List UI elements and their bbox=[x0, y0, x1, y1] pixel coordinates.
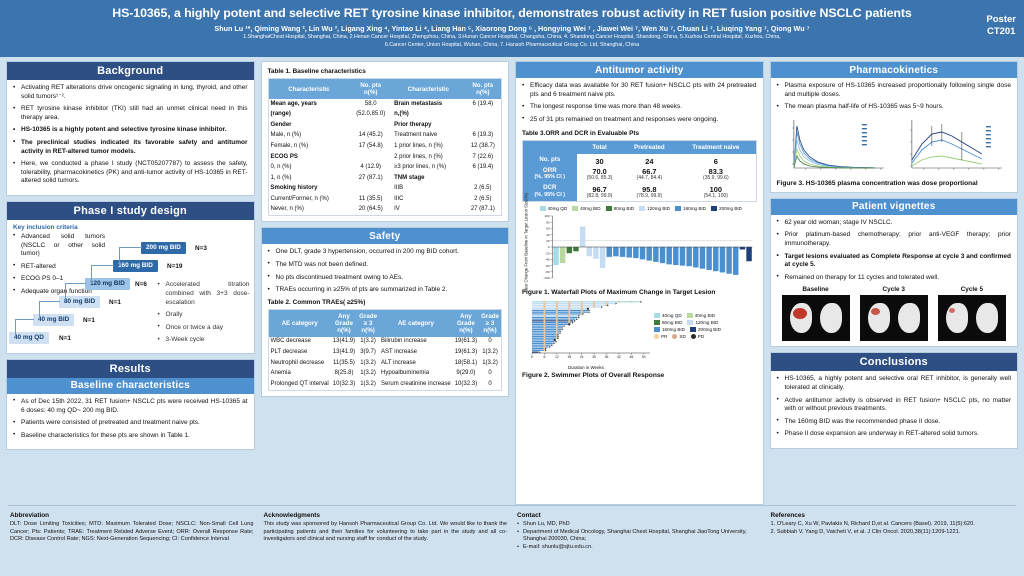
table-cell: 19(61.3) bbox=[453, 337, 479, 348]
list-item: Here, we conducted a phase I study (NCT0… bbox=[13, 160, 248, 186]
antitumor-heading: Antitumor activity bbox=[516, 62, 763, 78]
table-cell bbox=[465, 120, 501, 131]
table-cell: (52.0,85.0) bbox=[349, 110, 392, 121]
reference-list: 1. O'Leary C, Xu W, Pavlakis N, Richard … bbox=[771, 521, 1015, 536]
results-heading: Results bbox=[7, 360, 254, 378]
table-cell: 2 (6.5) bbox=[465, 184, 501, 195]
legend-item: 160mg BID bbox=[675, 206, 706, 212]
contact-list: Shun Lu, MD, PhDDepartment of Medical On… bbox=[517, 521, 761, 551]
table-cell: IIIC bbox=[392, 194, 465, 205]
dose-escalation-diagram: Key inclusion criteria Advanced solid tu… bbox=[7, 220, 254, 353]
pk-multiple-dose-chart bbox=[895, 116, 1011, 178]
acknowledgments-title: Acknowledgments bbox=[264, 512, 508, 519]
confidence-interval: (82.8, 99.9) bbox=[579, 193, 621, 200]
list-item: Efficacy data was available for 30 RET f… bbox=[522, 82, 757, 99]
figure2-x-axis-label: Duration in Weeks bbox=[568, 365, 757, 370]
table-cell: 6 (19.4) bbox=[465, 99, 501, 110]
table-cell: Never, n (%) bbox=[269, 205, 350, 216]
table-cell: 20 (64.5) bbox=[349, 205, 392, 216]
legend-swatch bbox=[687, 320, 693, 325]
table-cell: 95.8(78.9, 99.9) bbox=[622, 183, 676, 201]
legend-swatch bbox=[690, 327, 696, 332]
safety-card: Safety One DLT, grade 3 hypertension, oc… bbox=[261, 227, 510, 396]
row-header: ORR(%, 95% CI ) bbox=[523, 165, 577, 183]
table-cell: 83.3(35.9, 99.6) bbox=[676, 165, 755, 183]
figure1-y-axis-label: Best Change From Baseline in Target Lesi… bbox=[522, 206, 530, 280]
table-cell: 1(3.2) bbox=[357, 379, 379, 390]
legend-label: PD bbox=[698, 334, 704, 340]
table-row: Male, n (%)14 (45.2)Treatment naive6 (19… bbox=[269, 131, 502, 142]
table2-header-row: AE categoryAnyGraden(%)Grade≥ 3n(%)AE ca… bbox=[269, 310, 502, 337]
table-cell: Male, n (%) bbox=[269, 131, 350, 142]
value: 100 bbox=[678, 186, 753, 193]
table-cell: 1(3.2) bbox=[357, 337, 379, 348]
table1-body: Mean age, years58.0Brain metastasis6 (19… bbox=[269, 99, 502, 215]
figure1-plot-area: 40mg QD40mg BID80mg BID120mg BID160mg BI… bbox=[530, 206, 757, 287]
table-cell: n,(%) bbox=[392, 110, 465, 121]
legend-label: 80mg BID bbox=[614, 206, 634, 212]
table-cell: 14 (45.2) bbox=[349, 131, 392, 142]
table-cell: Bilirubin increase bbox=[379, 337, 453, 348]
poster-number: CT201 bbox=[986, 26, 1016, 38]
table-row: WBC decrease13(41.9)1(3.2)Bilirubin incr… bbox=[269, 337, 502, 348]
reference-item: 1. O'Leary C, Xu W, Pavlakis N, Richard … bbox=[771, 521, 1015, 528]
list-item: Activating RET alterations drive oncogen… bbox=[13, 84, 248, 101]
legend-label: 40mg BID bbox=[695, 313, 715, 319]
row-header: No. pts bbox=[523, 154, 577, 165]
list-item: Once or twice a day bbox=[158, 324, 250, 333]
table-cell: Smoking history bbox=[269, 184, 350, 195]
dose-cohort-n: N=1 bbox=[59, 335, 71, 342]
svg-text:36: 36 bbox=[605, 355, 609, 359]
table-row: Prolonged QT interval10(32.3)1(3.2)Serum… bbox=[269, 379, 502, 390]
table-cell: 12 (38.7) bbox=[465, 141, 501, 152]
table-cell: 2 prior lines, n (%) bbox=[392, 152, 465, 163]
figure2-legend: 40mg QD40mg BID80mg BID120mg BID160mg BI… bbox=[654, 313, 732, 341]
svg-text:48: 48 bbox=[629, 355, 633, 359]
poster-number-block: Poster CT201 bbox=[986, 14, 1016, 38]
svg-text:0: 0 bbox=[531, 355, 533, 359]
legend-item: 200mg BID bbox=[711, 206, 742, 212]
table-cell: 13(41.9) bbox=[331, 337, 357, 348]
study-design-heading: Phase I study design bbox=[7, 202, 254, 220]
table-row: 1, n (%)27 (87.1)TNM stage bbox=[269, 173, 502, 184]
table-cell bbox=[465, 173, 501, 184]
column-header: Characteristic bbox=[392, 79, 465, 99]
table-cell: 13(41.9) bbox=[331, 347, 357, 358]
table-row: (range)(52.0,85.0)n,(%) bbox=[269, 110, 502, 121]
poster-label: Poster bbox=[986, 14, 1016, 26]
table-cell: 100(54.1, 100) bbox=[676, 183, 755, 201]
list-item: 62 year old woman; stage IV NSCLC. bbox=[777, 219, 1012, 228]
table-cell: 96.7(82.8, 99.9) bbox=[577, 183, 623, 201]
author-list: Shun Lu ¹*, Qiming Wang ², Lin Wu ³, Lig… bbox=[50, 24, 974, 33]
acknowledgments-block: Acknowledgments This study was sponsored… bbox=[264, 512, 508, 551]
legend-label: 40mg QD bbox=[662, 313, 682, 319]
legend-item: PD bbox=[691, 334, 704, 340]
contact-block: Contact Shun Lu, MD, PhDDepartment of Me… bbox=[517, 512, 761, 551]
list-item: The 160mg BID was the recommended phase … bbox=[777, 418, 1012, 427]
table-cell: 6 bbox=[676, 154, 755, 165]
ct-scan-label: Cycle 5 bbox=[938, 286, 1006, 293]
legend-swatch bbox=[675, 206, 681, 211]
svg-text:12: 12 bbox=[555, 355, 559, 359]
list-item: Accelerated titration combined with 3+3 … bbox=[158, 281, 250, 307]
table-cell bbox=[349, 152, 392, 163]
legend-label: 40mg QD bbox=[548, 206, 568, 212]
legend-item: 120mg BID bbox=[687, 320, 718, 326]
patient-vignettes-heading: Patient vignettes bbox=[771, 199, 1018, 215]
table-cell: Treatment naive bbox=[392, 131, 465, 142]
legend-item: 40mg QD bbox=[540, 206, 568, 212]
legend-label: 160mg BID bbox=[683, 206, 706, 212]
legend-item: 80mg BID bbox=[606, 206, 634, 212]
study-design-card: Phase I study design Key inclusion crite… bbox=[6, 201, 255, 354]
table-row: Neutrophil decrease11(35.5)1(3.2)ALT inc… bbox=[269, 358, 502, 369]
table-cell: 1, n (%) bbox=[269, 173, 350, 184]
row-header-label: DCR bbox=[543, 184, 556, 191]
ct-scan-item: Baseline bbox=[782, 286, 850, 341]
table-cell: 0 bbox=[479, 368, 501, 379]
table-cell bbox=[349, 184, 392, 195]
dose-cohort-box[interactable]: 200 mg BID bbox=[141, 242, 186, 254]
table-cell: 11(35.5) bbox=[331, 358, 357, 369]
table1-caption: Table 1. Baseline characteristics bbox=[268, 68, 503, 75]
acknowledgments-text: This study was sponsored by Hansoh Pharm… bbox=[264, 521, 508, 543]
legend-item: 40mg BID bbox=[572, 206, 600, 212]
row-header-sublabel: (%, 95% CI ) bbox=[525, 192, 575, 199]
escalation-connector bbox=[65, 283, 86, 302]
ct-scan-row: BaselineCycle 3Cycle 5 bbox=[777, 286, 1012, 341]
abbreviation-text: DLT: Dose Limiting Toxicities; MTD: Maxi… bbox=[10, 521, 254, 543]
table-cell: 66.7(44.7, 84.4) bbox=[622, 165, 676, 183]
table-cell: ALT increase bbox=[379, 358, 453, 369]
list-item: No pts discontinued treatment owing to A… bbox=[268, 274, 503, 283]
legend-label: 160mg BID bbox=[662, 327, 685, 333]
legend-item: PR bbox=[654, 334, 667, 340]
table-row: GenderPrior therapy bbox=[269, 120, 502, 131]
table-row: Current/Former, n (%)11 (35.5)IIIC2 (6.5… bbox=[269, 194, 502, 205]
legend-swatch bbox=[654, 313, 660, 318]
table-cell: Prolonged QT interval bbox=[269, 379, 331, 390]
svg-text:20: 20 bbox=[546, 239, 550, 243]
confidence-interval: (54.1, 100) bbox=[678, 193, 753, 200]
column-header: Grade≥ 3n(%) bbox=[479, 310, 501, 337]
dose-cohort-n: N=1 bbox=[83, 317, 95, 324]
table-cell: 0 bbox=[479, 337, 501, 348]
ct-scan-item: Cycle 3 bbox=[860, 286, 928, 341]
safety-bullets: One DLT, grade 3 hypertension, occurred … bbox=[268, 248, 503, 294]
confidence-interval: (44.7, 84.4) bbox=[624, 175, 674, 182]
table-cell: TNM stage bbox=[392, 173, 465, 184]
value: 6 bbox=[678, 158, 753, 165]
svg-text:42: 42 bbox=[617, 355, 621, 359]
legend-swatch bbox=[711, 206, 717, 211]
svg-text:18: 18 bbox=[567, 355, 571, 359]
table-cell: 17 (54.8) bbox=[349, 141, 392, 152]
value: 30 bbox=[579, 158, 621, 165]
contact-line: Department of Medical Oncology, Shanghai… bbox=[517, 529, 761, 544]
legend-label: 40mg BID bbox=[580, 206, 600, 212]
results-card: Results Baseline characteristics As of D… bbox=[6, 359, 255, 450]
conclusions-card: Conclusions HS-10365, a highly potent an… bbox=[770, 352, 1019, 449]
legend-swatch bbox=[606, 206, 612, 211]
row-header-label: ORR bbox=[543, 167, 557, 174]
contact-title: Contact bbox=[517, 512, 761, 519]
table-cell: 24 bbox=[622, 154, 676, 165]
table-cell: IV bbox=[392, 205, 465, 216]
value: 96.7 bbox=[579, 186, 621, 193]
reference-item: 2. Subbiah V, Yang D, Vaicheti V, et al.… bbox=[771, 529, 1015, 536]
table-common-traes: AE categoryAnyGraden(%)Grade≥ 3n(%)AE ca… bbox=[269, 310, 502, 390]
table-cell: 4 (12.9) bbox=[349, 162, 392, 173]
table-row: Smoking historyIIIB2 (6.5) bbox=[269, 184, 502, 195]
legend-dot bbox=[672, 334, 677, 339]
table-cell: 0, n (%) bbox=[269, 162, 350, 173]
background-heading: Background bbox=[7, 62, 254, 80]
table-orr-dcr: TotalPretreatedTreatment naive No. pts30… bbox=[523, 141, 756, 200]
figure2-block: 061218243036424854 40mg QD40mg BID80mg B… bbox=[522, 299, 757, 379]
dose-cohort-n: N=1 bbox=[109, 299, 121, 306]
legend-swatch bbox=[654, 327, 660, 332]
list-item: The preclinical studies indicated its fa… bbox=[13, 139, 248, 156]
column-header: Characteristic bbox=[269, 79, 350, 99]
table-cell: Mean age, years bbox=[269, 99, 350, 110]
column-header: Grade≥ 3n(%) bbox=[357, 310, 379, 337]
table-cell: Anemia bbox=[269, 368, 331, 379]
lung-field-right bbox=[898, 303, 920, 333]
legend-label: 120mg BID bbox=[647, 206, 670, 212]
svg-text:6: 6 bbox=[543, 355, 545, 359]
legend-label: PR bbox=[661, 334, 667, 340]
table2-body: WBC decrease13(41.9)1(3.2)Bilirubin incr… bbox=[269, 337, 502, 390]
legend-item: 200mg BID bbox=[690, 327, 721, 333]
svg-text:-40: -40 bbox=[545, 257, 550, 261]
table1-wrap: CharacteristicNo. ptsn(%)CharacteristicN… bbox=[268, 78, 503, 216]
ct-scan-label: Cycle 3 bbox=[860, 286, 928, 293]
figure3-caption: Figure 3. HS-10365 plasma concentration … bbox=[777, 180, 1012, 187]
conclusions-heading: Conclusions bbox=[771, 353, 1018, 371]
references-block: References 1. O'Leary C, Xu W, Pavlakis … bbox=[771, 512, 1015, 551]
table-cell: ≥3 prior lines, n (%) bbox=[392, 162, 465, 173]
table-row: Mean age, years58.0Brain metastasis6 (19… bbox=[269, 99, 502, 110]
pk-bullets: Plasma exposure of HS-10365 increased pr… bbox=[777, 82, 1012, 112]
ct-scan-item: Cycle 5 bbox=[938, 286, 1006, 341]
column-header: No. ptsn(%) bbox=[465, 79, 501, 99]
table-cell: Gender bbox=[269, 120, 350, 131]
list-item: Patients were consisted of pretreated an… bbox=[13, 419, 248, 428]
escalation-connector bbox=[91, 265, 114, 284]
legend-item: 80mg BID bbox=[654, 320, 682, 326]
table-cell: 6 (19.4) bbox=[465, 162, 501, 173]
table-row: ORR(%, 95% CI )70.0(50.6, 85.3)66.7(44.7… bbox=[523, 165, 756, 183]
list-item: Remained on therapy for 11 cycles and to… bbox=[777, 274, 1012, 283]
poster-columns: Background Activating RET alterations dr… bbox=[0, 57, 1024, 505]
table-cell: WBC decrease bbox=[269, 337, 331, 348]
column-2: Table 1. Baseline characteristics Charac… bbox=[261, 61, 510, 505]
table-cell: 58.0 bbox=[349, 99, 392, 110]
escalation-notes: Accelerated titration combined with 3+3 … bbox=[158, 281, 250, 349]
affiliations-line-1: 1.ShanghaiChest Hospital, Shanghai, Chin… bbox=[80, 34, 944, 41]
poster-footer: Abbreviation DLT: Dose Limiting Toxiciti… bbox=[0, 506, 1024, 555]
antitumor-bullets: Efficacy data was available for 30 RET f… bbox=[522, 82, 757, 128]
legend-swatch bbox=[572, 206, 578, 211]
table-cell: IIIB bbox=[392, 184, 465, 195]
figure2-caption: Figure 2. Swimmer Plots of Overall Respo… bbox=[522, 372, 757, 379]
table-cell: 6 (19.3) bbox=[465, 131, 501, 142]
baseline-characteristics-heading: Baseline characteristics bbox=[7, 378, 254, 394]
ct-scan-image bbox=[782, 295, 850, 341]
svg-text:80: 80 bbox=[546, 220, 550, 224]
legend-item: 120mg BID bbox=[639, 206, 670, 212]
legend-item: 160mg BID bbox=[654, 327, 685, 333]
svg-text:30: 30 bbox=[592, 355, 596, 359]
table-cell: 3(9.7) bbox=[357, 347, 379, 358]
legend-swatch bbox=[687, 313, 693, 318]
list-item: Orally bbox=[158, 311, 250, 320]
page-title: HS-10365, a highly potent and selective … bbox=[10, 6, 1014, 20]
svg-text:100: 100 bbox=[544, 214, 549, 218]
table3-wrap: TotalPretreatedTreatment naive No. pts30… bbox=[522, 140, 757, 201]
safety-heading: Safety bbox=[262, 228, 509, 244]
legend-swatch bbox=[639, 206, 645, 211]
table-cell: 0 bbox=[479, 379, 501, 390]
inclusion-criteria-title: Key inclusion criteria bbox=[13, 224, 105, 231]
legend-label: 80mg BID bbox=[662, 320, 682, 326]
value: 95.8 bbox=[624, 186, 674, 193]
table-cell: 10(32.3) bbox=[331, 379, 357, 390]
column-header: No. ptsn(%) bbox=[349, 79, 392, 99]
table-row: Anemia8(25.8)1(3.2)Hypoalbuminemia9(29.0… bbox=[269, 368, 502, 379]
table-baseline-characteristics: CharacteristicNo. ptsn(%)CharacteristicN… bbox=[269, 79, 502, 215]
waterfall-chart: -100-80-60-40-20020406080100 bbox=[530, 214, 757, 282]
escalation-connector bbox=[15, 319, 34, 338]
column-header: AE category bbox=[269, 310, 331, 337]
list-item: The mean plasma half-life of HS-10365 wa… bbox=[777, 103, 1012, 112]
table-row: PLT decrease13(41.9)3(9.7)AST increase19… bbox=[269, 347, 502, 358]
table-cell: (range) bbox=[269, 110, 350, 121]
column-header: Pretreated bbox=[622, 141, 676, 154]
figure1-caption: Figure 1. Waterfall Plots of Maximum Cha… bbox=[522, 289, 757, 296]
table-cell: 18(58.1) bbox=[453, 358, 479, 369]
list-item: TRAEs occurring in ≥25% of pts are summa… bbox=[268, 286, 503, 295]
references-title: References bbox=[771, 512, 1015, 519]
list-item: Prior platinum-based chemotherapy; prior… bbox=[777, 231, 1012, 248]
table-cell: 1(3.2) bbox=[479, 347, 501, 358]
conclusions-bullets: HS-10365, a highly potent and selective … bbox=[777, 375, 1012, 439]
list-item: Advanced solid tumors (NSCLC or other so… bbox=[13, 233, 105, 259]
list-item: Active antitumor activity is observed in… bbox=[777, 397, 1012, 414]
figure1-block: Best Change From Baseline in Target Lesi… bbox=[522, 206, 757, 296]
list-item: The MTD was not been defined. bbox=[268, 261, 503, 270]
table-row: DCR(%, 95% CI )96.7(82.8, 99.9)95.8(78.9… bbox=[523, 183, 756, 201]
table2-wrap: AE categoryAnyGraden(%)Grade≥ 3n(%)AE ca… bbox=[268, 309, 503, 391]
table-row: 0, n (%)4 (12.9)≥3 prior lines, n (%)6 (… bbox=[269, 162, 502, 173]
table-cell: Current/Former, n (%) bbox=[269, 194, 350, 205]
background-card: Background Activating RET alterations dr… bbox=[6, 61, 255, 196]
svg-text:24: 24 bbox=[580, 355, 584, 359]
list-item: 3-Week cycle bbox=[158, 336, 250, 345]
value: 70.0 bbox=[579, 168, 621, 175]
table-cell: 30 bbox=[577, 154, 623, 165]
table-cell: 2 (6.5) bbox=[465, 194, 501, 205]
table-cell: Serum creatinine increase bbox=[379, 379, 453, 390]
legend-label: 200mg BID bbox=[719, 206, 742, 212]
table-row: Never, n (%)20 (64.5)IV27 (87.1) bbox=[269, 205, 502, 216]
table2-caption: Table 2. Common TRAEs( ≥25%) bbox=[268, 299, 503, 306]
value: 24 bbox=[624, 158, 674, 165]
svg-text:0: 0 bbox=[548, 245, 550, 249]
table-cell: 27 (87.1) bbox=[349, 173, 392, 184]
svg-text:-100: -100 bbox=[543, 276, 549, 280]
lung-field-left bbox=[868, 303, 890, 333]
svg-text:-80: -80 bbox=[545, 270, 550, 274]
table-cell: 7 (22.6) bbox=[465, 152, 501, 163]
column-3: Antitumor activity Efficacy data was ava… bbox=[515, 61, 764, 505]
row-header-sublabel: (%, 95% CI ) bbox=[525, 174, 575, 181]
table-cell: 9(29.0) bbox=[453, 368, 479, 379]
table-cell: PLT decrease bbox=[269, 347, 331, 358]
poster-header: HS-10365, a highly potent and selective … bbox=[0, 0, 1024, 57]
escalation-connector bbox=[39, 301, 60, 320]
confidence-interval: (50.6, 85.3) bbox=[579, 175, 621, 182]
svg-text:40: 40 bbox=[546, 232, 550, 236]
legend-dot bbox=[691, 334, 696, 339]
table-cell: Female, n (%) bbox=[269, 141, 350, 152]
table-cell: 1 prior lines, n (%) bbox=[392, 141, 465, 152]
patient-vignettes-card: Patient vignettes 62 year old woman; sta… bbox=[770, 198, 1019, 348]
table3-caption: Table 3.ORR and DCR in Evaluable Pts bbox=[522, 130, 757, 137]
table-cell: Hypoalbuminemia bbox=[379, 368, 453, 379]
table-cell: 27 (87.1) bbox=[465, 205, 501, 216]
table-cell: 19(61.3) bbox=[453, 347, 479, 358]
legend-swatch bbox=[654, 320, 660, 325]
vignette-bullets: 62 year old woman; stage IV NSCLC.Prior … bbox=[777, 219, 1012, 283]
list-item: 25 of 31 pts remained on treatment and r… bbox=[522, 116, 757, 125]
legend-swatch bbox=[540, 206, 546, 211]
pk-figure-row bbox=[777, 116, 1012, 178]
table-cell: AST increase bbox=[379, 347, 453, 358]
poster-root: HS-10365, a highly potent and selective … bbox=[0, 0, 1024, 576]
column-header: Treatment naive bbox=[676, 141, 755, 154]
pk-single-dose-chart bbox=[777, 116, 893, 178]
list-item: One DLT, grade 3 hypertension, occurred … bbox=[268, 248, 503, 257]
confidence-interval: (35.9, 99.6) bbox=[678, 175, 753, 182]
svg-text:-60: -60 bbox=[545, 263, 550, 267]
figure1-legend: 40mg QD40mg BID80mg BID120mg BID160mg BI… bbox=[530, 206, 757, 213]
column-4: Pharmacokinetics Plasma exposure of HS-1… bbox=[770, 61, 1019, 505]
svg-text:54: 54 bbox=[642, 355, 646, 359]
table-cell: Neutrophil decrease bbox=[269, 358, 331, 369]
table-cell bbox=[349, 120, 392, 131]
list-item: RET tyrosine kinase inhibitor (TKI) stil… bbox=[13, 105, 248, 122]
table1-header-row: CharacteristicNo. ptsn(%)CharacteristicN… bbox=[269, 79, 502, 99]
legend-item: 40mg BID bbox=[687, 313, 715, 319]
dose-cohort-n: N=6 bbox=[135, 281, 147, 288]
value: 66.7 bbox=[624, 168, 674, 175]
table-cell: 8(25.8) bbox=[331, 368, 357, 379]
column-1: Background Activating RET alterations dr… bbox=[6, 61, 255, 505]
ct-scan-label: Baseline bbox=[782, 286, 850, 293]
table-row: Female, n (%)17 (54.8)1 prior lines, n (… bbox=[269, 141, 502, 152]
list-item: Target lesions evaluated as Complete Res… bbox=[777, 253, 1012, 270]
ct-scan-image bbox=[938, 295, 1006, 341]
column-header: AE category bbox=[379, 310, 453, 337]
list-item: Plasma exposure of HS-10365 increased pr… bbox=[777, 82, 1012, 99]
legend-label: 120mg BID bbox=[695, 320, 718, 326]
escalation-connector bbox=[119, 247, 142, 266]
abbreviation-title: Abbreviation bbox=[10, 512, 254, 519]
